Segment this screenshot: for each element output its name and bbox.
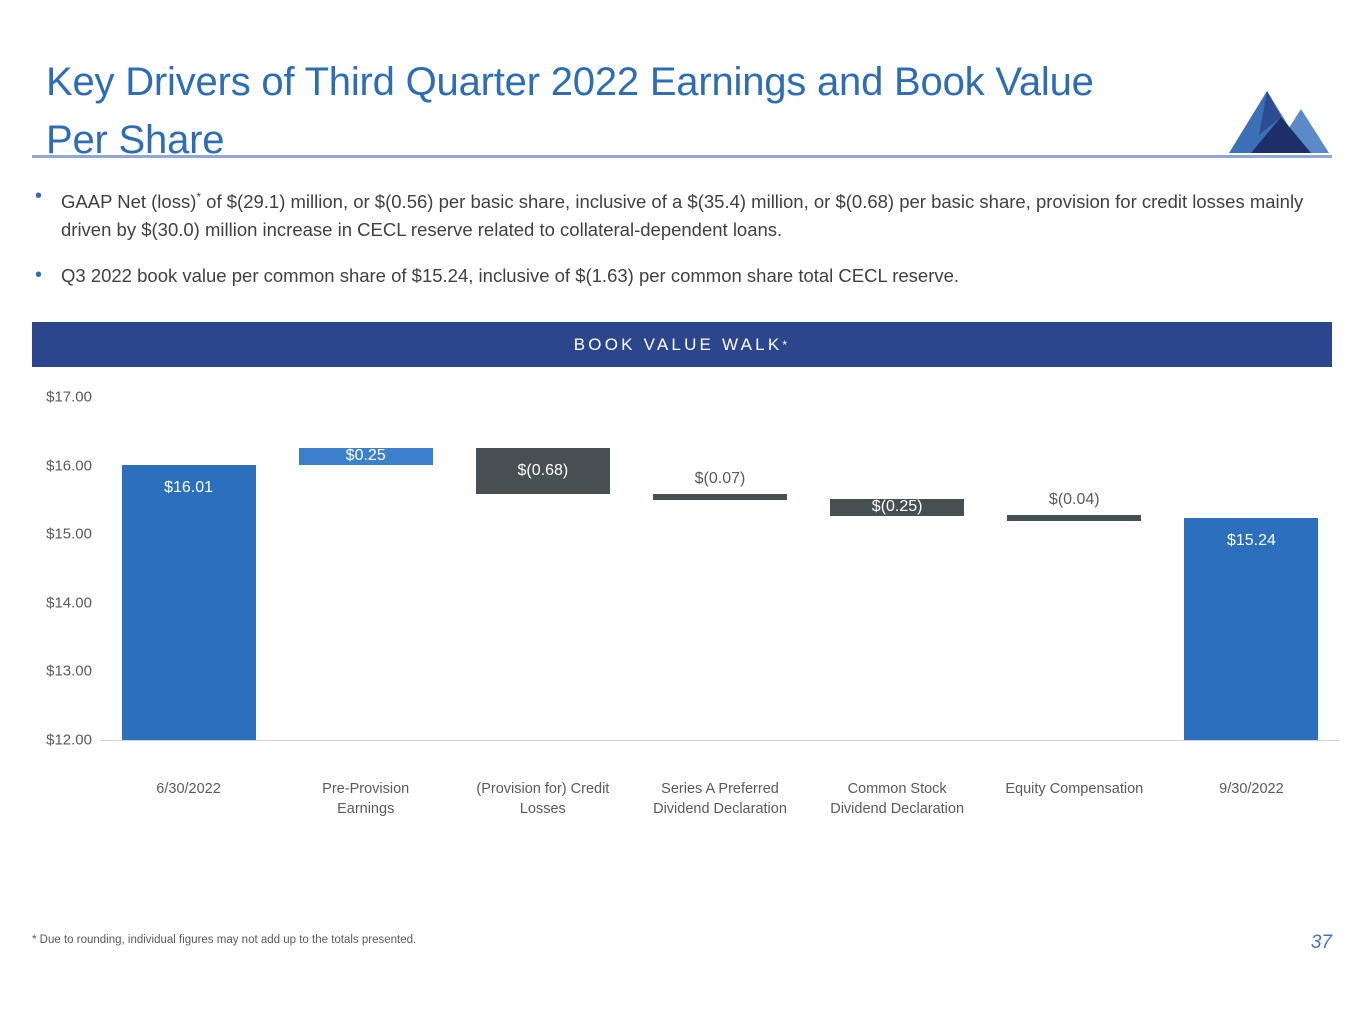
bar-value-label: $0.25 <box>346 447 386 465</box>
y-axis: $17.00$16.00$15.00$14.00$13.00$12.00 <box>0 397 92 740</box>
bullet-text-1: GAAP Net (loss)* of $(29.1) million, or … <box>61 183 1327 244</box>
bullet-1-prefix: GAAP Net (loss) <box>61 191 196 212</box>
title-divider <box>32 155 1332 158</box>
bullet-1-suffix: of $(29.1) million, or $(0.56) per basic… <box>61 191 1303 240</box>
y-axis-tick-label: $13.00 <box>20 663 92 680</box>
chart-title-banner: BOOK VALUE WALK* <box>32 322 1332 367</box>
bar-value-label: $15.24 <box>1227 532 1276 550</box>
bar-value-label: $(0.25) <box>872 498 923 516</box>
bullet-text-2: Q3 2022 book value per common share of $… <box>61 262 1327 290</box>
y-axis-tick-label: $14.00 <box>20 594 92 611</box>
x-axis-category-label: Common Stock Dividend Declaration <box>794 779 1001 819</box>
bar-value-label: $(0.04) <box>1049 491 1100 509</box>
bar-value-label: $(0.68) <box>517 462 568 480</box>
chart-bar[interactable] <box>653 494 787 500</box>
bullet-item-1: • GAAP Net (loss)* of $(29.1) million, o… <box>32 183 1327 244</box>
x-axis-category-label: Series A Preferred Dividend Declaration <box>616 779 823 819</box>
chart-bar[interactable] <box>1007 515 1141 521</box>
x-axis-category-label: 9/30/2022 <box>1148 779 1355 799</box>
y-axis-tick-label: $15.00 <box>20 526 92 543</box>
book-value-walk-chart: $17.00$16.00$15.00$14.00$13.00$12.00 $16… <box>0 367 1365 797</box>
x-axis-category-label: 6/30/2022 <box>85 779 292 799</box>
bar-value-label: $(0.07) <box>695 470 746 488</box>
x-axis-category-label: (Provision for) Credit Losses <box>439 779 646 819</box>
mountain-logo <box>1229 83 1337 153</box>
plot-area: $16.016/30/2022$0.25Pre-Provision Earnin… <box>100 397 1340 740</box>
page-title: Key Drivers of Third Quarter 2022 Earnin… <box>46 53 1166 169</box>
chart-title-label: BOOK VALUE WALK <box>574 335 783 355</box>
footnote: * Due to rounding, individual figures ma… <box>32 934 416 946</box>
x-axis-line <box>100 740 1340 741</box>
y-axis-tick-label: $12.00 <box>20 732 92 749</box>
y-axis-tick-label: $17.00 <box>20 389 92 406</box>
bullet-marker-icon: • <box>32 183 61 209</box>
x-axis-category-label: Pre-Provision Earnings <box>262 779 469 819</box>
bullet-marker-icon: • <box>32 262 61 288</box>
chart-bar[interactable] <box>1184 518 1318 740</box>
bullet-item-2: • Q3 2022 book value per common share of… <box>32 262 1327 290</box>
page-number: 37 <box>1311 932 1332 954</box>
chart-title-superscript: * <box>782 338 790 352</box>
y-axis-tick-label: $16.00 <box>20 457 92 474</box>
chart-bar[interactable] <box>122 465 256 740</box>
bar-value-label: $16.01 <box>164 479 213 497</box>
x-axis-category-label: Equity Compensation <box>971 779 1178 799</box>
